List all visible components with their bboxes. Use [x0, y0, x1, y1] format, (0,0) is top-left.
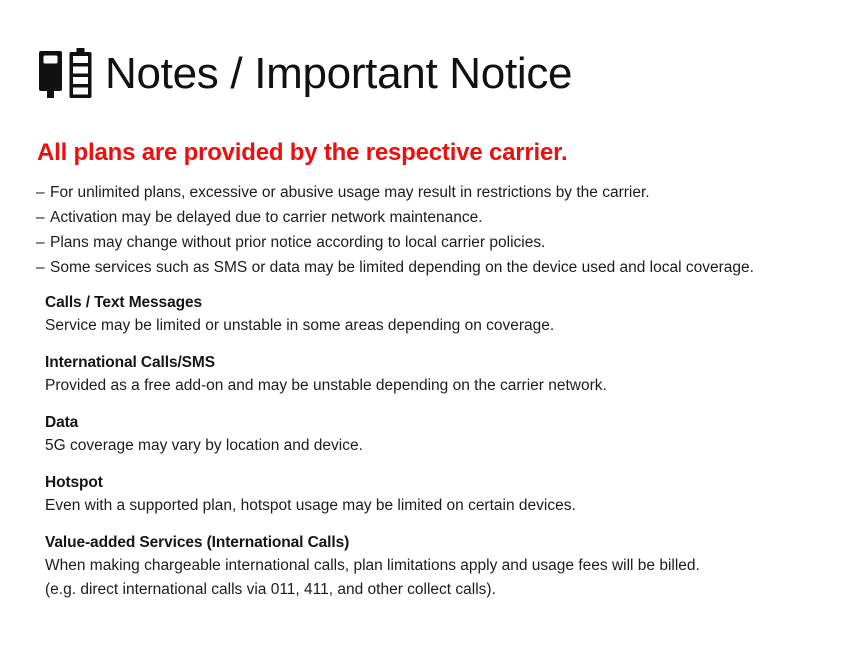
battery-segments-icon: [68, 48, 93, 100]
section-data: Data 5G coverage may vary by location an…: [45, 412, 835, 458]
bullet-text: Activation may be delayed due to carrier…: [50, 205, 483, 230]
list-item: – Activation may be delayed due to carri…: [36, 205, 836, 230]
section-title: Data: [45, 412, 835, 434]
bullet-text: Some services such as SMS or data may be…: [50, 255, 754, 280]
section-line: Service may be limited or unstable in so…: [45, 314, 835, 338]
page-title: Notes / Important Notice: [105, 52, 572, 96]
list-item: – Plans may change without prior notice …: [36, 230, 836, 255]
bullet-text: Plans may change without prior notice ac…: [50, 230, 545, 255]
section-line: When making chargeable international cal…: [45, 554, 835, 578]
section-title: Calls / Text Messages: [45, 292, 835, 314]
section-line: (e.g. direct international calls via 011…: [45, 578, 835, 602]
section-line: Provided as a free add-on and may be uns…: [45, 374, 835, 398]
section-hotspot: Hotspot Even with a supported plan, hots…: [45, 472, 835, 518]
battery-filled-icon: [38, 48, 63, 100]
section-line: 5G coverage may vary by location and dev…: [45, 434, 835, 458]
section-title: Value-added Services (International Call…: [45, 532, 835, 554]
section-line: Even with a supported plan, hotspot usag…: [45, 494, 835, 518]
bullet-marker: –: [36, 255, 50, 280]
notice-sections: Calls / Text Messages Service may be lim…: [45, 292, 835, 602]
notice-headline: All plans are provided by the respective…: [37, 139, 567, 167]
list-item: – Some services such as SMS or data may …: [36, 255, 836, 280]
header-icon-group: [38, 48, 93, 100]
notice-page: Notes / Important Notice All plans are p…: [0, 0, 860, 656]
section-value-added-services: Value-added Services (International Call…: [45, 532, 835, 602]
bullet-marker: –: [36, 230, 50, 255]
bullet-text: For unlimited plans, excessive or abusiv…: [50, 180, 650, 205]
list-item: – For unlimited plans, excessive or abus…: [36, 180, 836, 205]
section-title: Hotspot: [45, 472, 835, 494]
notice-bullet-list: – For unlimited plans, excessive or abus…: [36, 180, 836, 280]
section-calls-text-messages: Calls / Text Messages Service may be lim…: [45, 292, 835, 338]
page-header: Notes / Important Notice: [38, 43, 572, 105]
section-title: International Calls/SMS: [45, 352, 835, 374]
bullet-marker: –: [36, 205, 50, 230]
section-international-calls-sms: International Calls/SMS Provided as a fr…: [45, 352, 835, 398]
bullet-marker: –: [36, 180, 50, 205]
